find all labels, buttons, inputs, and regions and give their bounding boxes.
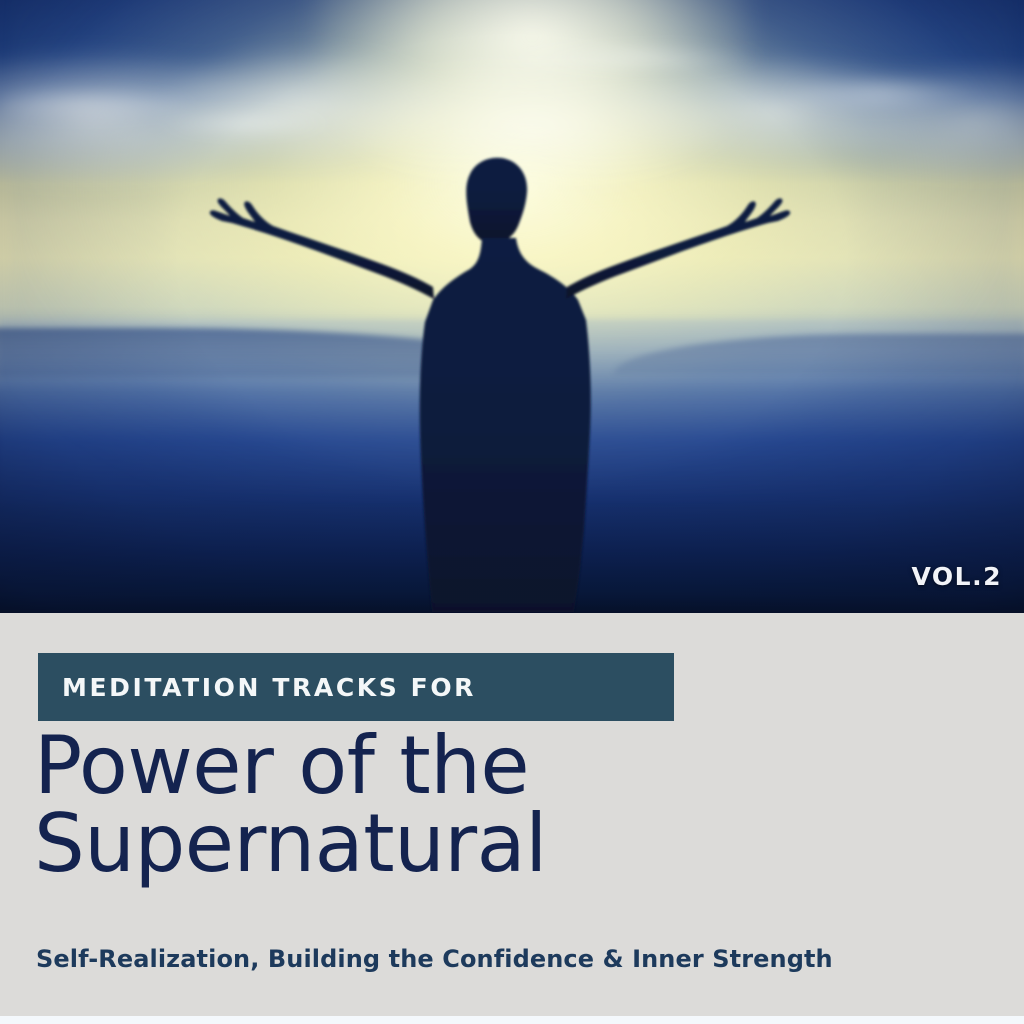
text-panel: MEDITATION TRACKS FOR Power of the Super… xyxy=(0,613,1024,1016)
eyebrow-label: MEDITATION TRACKS FOR xyxy=(38,673,476,702)
photo-vignette xyxy=(0,0,1024,613)
cover-photo: VOL.2 xyxy=(0,0,1024,613)
eyebrow-band: MEDITATION TRACKS FOR xyxy=(38,653,674,721)
volume-badge: VOL.2 xyxy=(912,562,1002,591)
album-title: Power of the Supernatural xyxy=(34,727,974,884)
album-subtitle: Self-Realization, Building the Confidenc… xyxy=(36,945,833,973)
album-title-line-2: Supernatural xyxy=(34,805,974,883)
album-title-line-1: Power of the xyxy=(34,727,974,805)
album-cover: VOL.2 MEDITATION TRACKS FOR Power of the… xyxy=(0,0,1024,1024)
bottom-edge-strip xyxy=(0,1016,1024,1024)
